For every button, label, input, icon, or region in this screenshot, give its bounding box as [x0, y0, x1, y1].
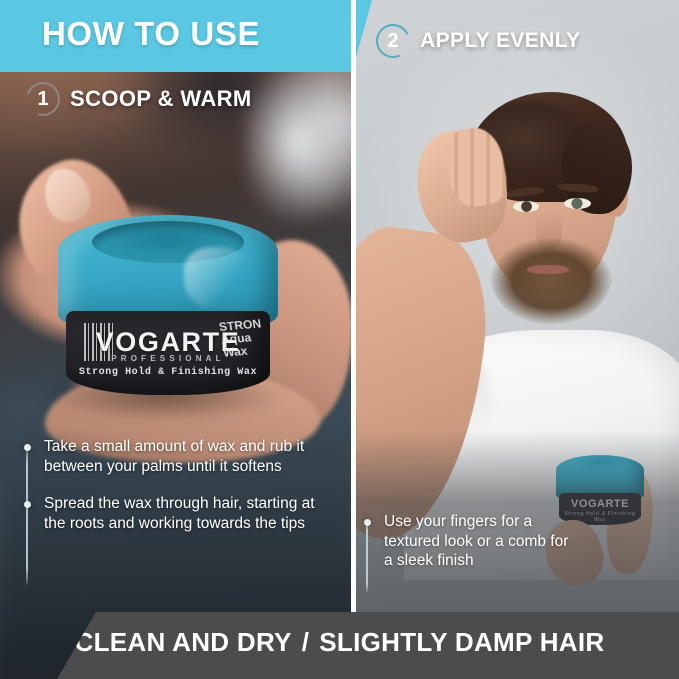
step-1-number-badge: 1: [26, 82, 60, 116]
list-item: Use your fingers for a textured look or …: [364, 512, 574, 571]
step-2-bullet-list: Use your fingers for a textured look or …: [364, 512, 574, 571]
page-title: HOW TO USE: [42, 15, 260, 53]
footer-right-text: SLIGHTLY DAMP HAIR: [319, 627, 604, 657]
list-item: Spread the wax through hair, starting at…: [24, 494, 324, 533]
step-1-bullet-list: Take a small amount of wax and rub it be…: [24, 437, 324, 551]
list-item-text: Use your fingers for a textured look or …: [384, 512, 574, 571]
list-item-text: Spread the wax through hair, starting at…: [44, 494, 324, 533]
bullet-dot-icon: [24, 444, 31, 451]
footer-separator: /: [292, 627, 320, 657]
product-jar-large: VOGARTE PROFESSIONAL Strong Hold & Finis…: [58, 215, 278, 395]
footer-left-text: CLEAN AND DRY: [75, 627, 292, 657]
jar-label-band: VOGARTE PROFESSIONAL Strong Hold & Finis…: [66, 311, 270, 395]
step-2-heading: 2 APPLY EVENLY: [376, 24, 580, 58]
step-1-arc-icon: [20, 76, 66, 122]
how-to-use-infographic: VOGARTE PROFESSIONAL Strong Hold & Finis…: [0, 0, 679, 679]
eye-left: [513, 201, 539, 212]
step-2-label: APPLY EVENLY: [420, 29, 580, 53]
step-2-arc-icon: [371, 19, 415, 63]
mouth: [527, 265, 569, 274]
list-item: Take a small amount of wax and rub it be…: [24, 437, 324, 476]
step-2-number-badge: 2: [376, 24, 410, 58]
step-1-label: SCOOP & WARM: [70, 86, 252, 112]
jar-lid-highlight: [184, 247, 260, 309]
eye-right: [564, 198, 591, 209]
bullet-dot-icon: [364, 519, 371, 526]
bullet-dot-icon: [24, 501, 31, 508]
footer-text: CLEAN AND DRY/SLIGHTLY DAMP HAIR: [0, 627, 679, 658]
list-item-text: Take a small amount of wax and rub it be…: [44, 437, 324, 476]
footer-bar: CLEAN AND DRY/SLIGHTLY DAMP HAIR: [0, 612, 679, 679]
step-1-heading: 1 SCOOP & WARM: [26, 82, 252, 116]
jar-side-text: STRONG Aqua Wax: [218, 317, 268, 370]
panel-divider: [351, 0, 356, 620]
how-to-use-banner: HOW TO USE: [0, 0, 372, 72]
